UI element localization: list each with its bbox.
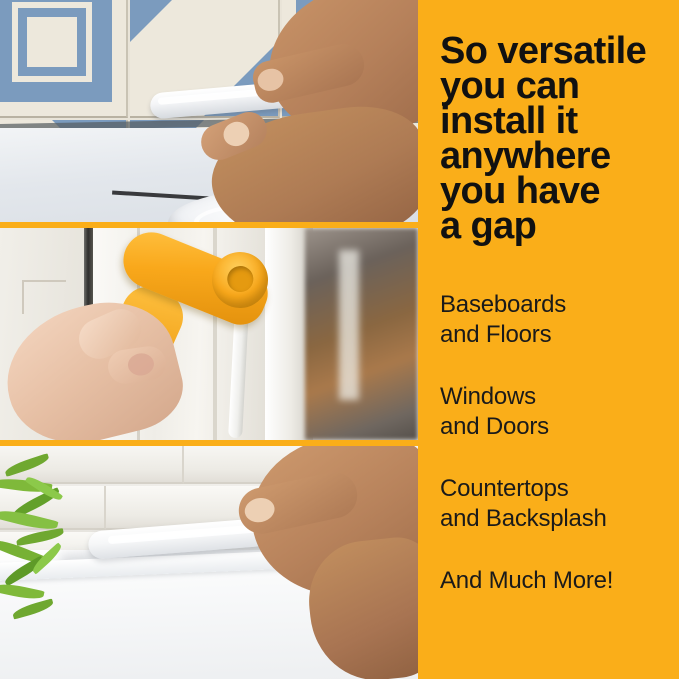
tile <box>0 0 128 118</box>
use-case-item: And Much More! <box>440 566 665 596</box>
use-case-item: Windows and Doors <box>440 382 665 442</box>
panel-divider <box>0 440 418 446</box>
use-case-list: Baseboards and Floors Windows and Doors … <box>440 290 665 596</box>
plant-icon <box>0 454 90 624</box>
text-column: So versatile you can install it anywhere… <box>418 0 679 679</box>
panel-divider <box>0 222 418 228</box>
photo-backsplash-tile <box>0 0 418 222</box>
headline: So versatile you can install it anywhere… <box>440 34 665 244</box>
use-case-item: Countertops and Backsplash <box>440 474 665 534</box>
photo-window-frame <box>0 228 418 440</box>
window-glass <box>305 228 418 440</box>
use-case-item: Baseboards and Floors <box>440 290 665 350</box>
photo-column <box>0 0 418 679</box>
photo-countertop <box>0 446 418 679</box>
product-infographic: So versatile you can install it anywhere… <box>0 0 679 679</box>
